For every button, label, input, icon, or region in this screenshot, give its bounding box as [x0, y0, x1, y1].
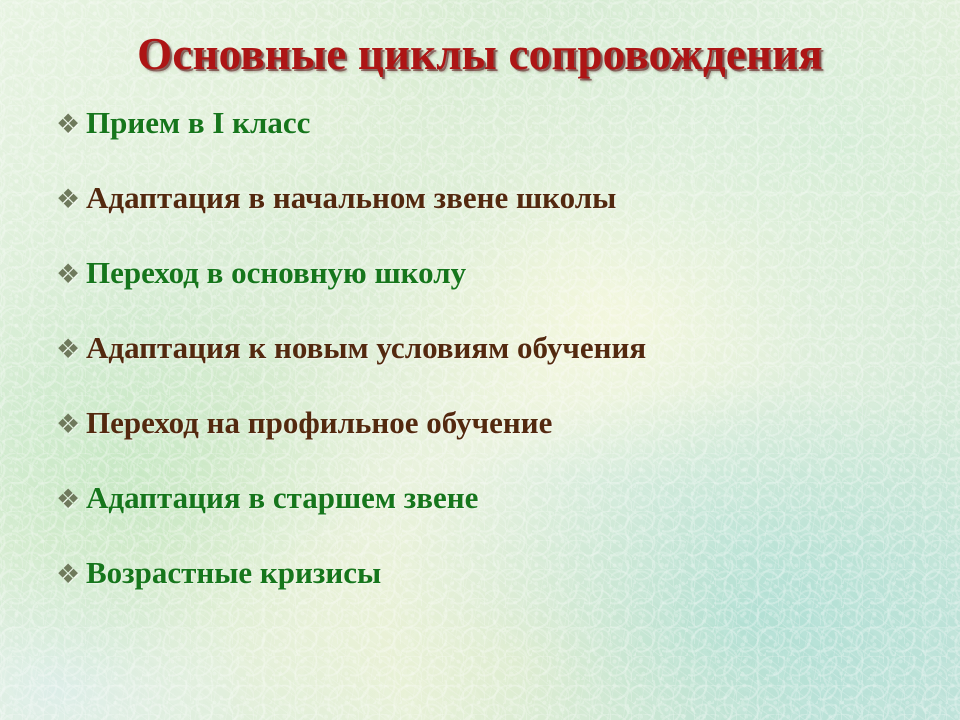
list-item: ❖Прием в I класс — [0, 106, 960, 181]
presentation-slide: Основные циклы сопровождения ❖Прием в I … — [0, 0, 960, 720]
diamond-cluster-bullet-icon: ❖ — [56, 411, 86, 438]
diamond-cluster-bullet-icon: ❖ — [56, 561, 86, 588]
list-item-label: Адаптация в начальном звене школы — [86, 181, 616, 215]
list-item: ❖Переход на профильное обучение — [0, 406, 960, 481]
list-item: ❖Адаптация в начальном звене школы — [0, 181, 960, 256]
diamond-cluster-bullet-icon: ❖ — [56, 261, 86, 288]
list-item-label: Переход в основную школу — [86, 256, 466, 290]
list-item-label: Возрастные кризисы — [86, 556, 381, 590]
slide-content: Основные циклы сопровождения ❖Прием в I … — [0, 0, 960, 720]
list-item-label: Переход на профильное обучение — [86, 406, 552, 440]
diamond-cluster-bullet-icon: ❖ — [56, 186, 86, 213]
list-item-label: Прием в I класс — [86, 106, 310, 140]
list-item-label: Адаптация к новым условиям обучения — [86, 331, 646, 365]
list-item: ❖Адаптация в старшем звене — [0, 481, 960, 556]
diamond-cluster-bullet-icon: ❖ — [56, 486, 86, 513]
slide-title: Основные циклы сопровождения — [0, 28, 960, 80]
bullet-list: ❖Прием в I класс❖Адаптация в начальном з… — [0, 106, 960, 631]
list-item: ❖Адаптация к новым условиям обучения — [0, 331, 960, 406]
list-item: ❖Переход в основную школу — [0, 256, 960, 331]
list-item: ❖Возрастные кризисы — [0, 556, 960, 631]
list-item-label: Адаптация в старшем звене — [86, 481, 478, 515]
diamond-cluster-bullet-icon: ❖ — [56, 111, 86, 138]
diamond-cluster-bullet-icon: ❖ — [56, 336, 86, 363]
